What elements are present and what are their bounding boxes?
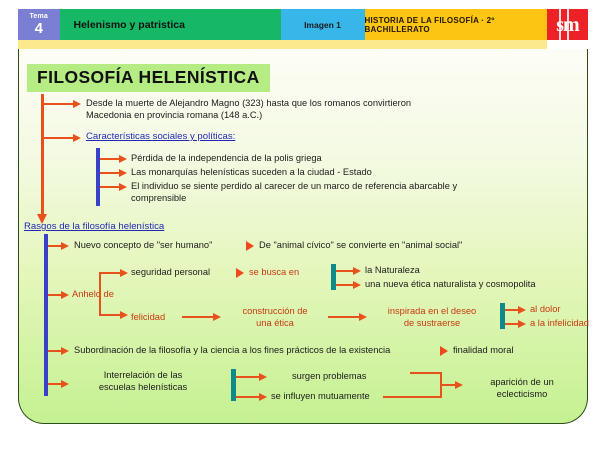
interrelacion-mid2-line	[236, 396, 260, 398]
anhelo-result-a1: la Naturaleza	[365, 264, 420, 276]
anhelo-branch-b-line	[99, 314, 121, 316]
section1-item2-line	[100, 172, 120, 174]
section2-row1-arrow-icon	[61, 242, 69, 250]
header-image-tag: Imagen 1	[281, 9, 365, 40]
felicidad-result-2-line	[505, 323, 519, 325]
section2-row2-line	[48, 294, 62, 296]
felicidad-step-2: inspirada en el deseo de sustraerse	[370, 305, 494, 330]
felicidad-step1-arrow-icon	[213, 313, 221, 321]
row-subordinacion-triangle-icon	[440, 346, 448, 356]
section2-row1-line	[48, 245, 62, 247]
interrelacion-mid1-line	[236, 376, 260, 378]
anhelo-riser-up	[99, 272, 101, 294]
row-subordinacion-right: finalidad moral	[453, 344, 513, 356]
header-topic-badge: Tema 4	[18, 9, 60, 40]
anhelo-result-a1-line	[336, 270, 354, 272]
anhelo-branch-b-arrow-icon	[120, 311, 128, 319]
anhelo-riser-down	[99, 294, 101, 316]
interrelacion-mid1-arrow-icon	[259, 373, 267, 381]
anhelo-result-a2-arrow-icon	[353, 281, 361, 289]
row-new-concept-left: Nuevo concepto de "ser humano"	[74, 239, 212, 251]
row-new-concept-triangle-icon	[246, 241, 254, 251]
section1-item-1: Pérdida de la independencia de la polis …	[131, 152, 561, 164]
felicidad-result-1: al dolor	[530, 303, 561, 315]
felicidad-step2-line	[328, 316, 360, 318]
merge-out-arrow-icon	[455, 381, 463, 389]
section1-item1-line	[100, 158, 120, 160]
header-unit-title: Helenismo y patristica	[60, 9, 281, 40]
interrelacion-mid2-arrow-icon	[259, 393, 267, 401]
row-interrelacion-right: aparición de un eclecticismo	[466, 376, 578, 401]
section2-group-bar	[44, 234, 48, 396]
felicidad-step2-arrow-icon	[359, 313, 367, 321]
header-publisher-logo: sm	[547, 9, 588, 40]
header-course-title: HISTORIA DE LA FILOSOFÍA · 2º BACHILLERA…	[365, 9, 548, 40]
logo-stripe-right-icon	[567, 9, 569, 40]
anhelo-branch-a-triangle-icon	[236, 268, 244, 278]
merge-out-line	[440, 384, 456, 386]
interrelacion-middle-2: se influyen mutuamente	[271, 390, 370, 402]
merge-top-line	[410, 372, 442, 374]
anhelo-branch-b-item: felicidad	[131, 311, 165, 323]
header-accent-strip	[18, 40, 547, 49]
section2-row2-arrow-icon	[61, 291, 69, 299]
felicidad-step1-line	[182, 316, 214, 318]
felicidad-result-2-arrow-icon	[518, 320, 526, 328]
row-subordinacion-left: Subordinación de la filosofía y la cienc…	[74, 344, 390, 356]
branch-line-section1	[44, 137, 74, 139]
slide-header: Tema 4 Helenismo y patristica Imagen 1 H…	[18, 9, 588, 40]
section2-row3-line	[48, 350, 62, 352]
anhelo-label: Anhelo de	[72, 288, 114, 300]
section1-heading: Características sociales y políticas:	[86, 131, 235, 143]
header-topic-label: Tema	[29, 13, 48, 20]
felicidad-result-1-arrow-icon	[518, 306, 526, 314]
branch-line-intro	[44, 103, 74, 105]
section2-row4-line	[48, 383, 62, 385]
anhelo-branch-a-line	[99, 272, 121, 274]
anhelo-result-a2: una nueva ética naturalista y cosmopolit…	[365, 278, 536, 290]
intro-text: Desde la muerte de Alejandro Magno (323)…	[86, 97, 566, 122]
felicidad-result-2: a la infelicidad	[530, 317, 589, 329]
section1-item2-arrow-icon	[119, 169, 127, 177]
anhelo-branch-a-item: seguridad personal	[131, 266, 210, 278]
anhelo-branch-a-connector: se busca en	[249, 266, 299, 278]
felicidad-result-1-line	[505, 309, 519, 311]
row-new-concept-right: De "animal cívico" se convierte en "anim…	[259, 239, 462, 251]
felicidad-results-group-bar	[500, 303, 505, 329]
section1-group-bar	[96, 148, 100, 206]
section2-row3-arrow-icon	[61, 347, 69, 355]
section1-item-2: Las monarquías helenísticas suceden a la…	[131, 166, 561, 178]
anhelo-result-a1-arrow-icon	[353, 267, 361, 275]
anhelo-branch-a-arrow-icon	[120, 269, 128, 277]
main-spine-line	[41, 94, 44, 219]
page-title: FILOSOFÍA HELENÍSTICA	[27, 64, 270, 92]
section1-item3-arrow-icon	[119, 183, 127, 191]
section1-item-3: El individuo se siente perdido al carece…	[131, 180, 571, 205]
anhelo-result-a2-line	[336, 284, 354, 286]
section1-item1-arrow-icon	[119, 155, 127, 163]
header-topic-number: 4	[35, 21, 43, 36]
interrelacion-middle-1: surgen problemas	[292, 370, 366, 382]
branch-arrow-intro-icon	[73, 100, 81, 108]
anhelo-branch-a-group-bar	[331, 264, 336, 290]
section1-item3-line	[100, 186, 120, 188]
branch-arrow-section1-icon	[73, 134, 81, 142]
section2-row4-arrow-icon	[61, 380, 69, 388]
slide-root: Tema 4 Helenismo y patristica Imagen 1 H…	[0, 0, 600, 450]
logo-stripe-left-icon	[559, 9, 561, 40]
row-interrelacion-left: Interrelación de las escuelas helenístic…	[78, 369, 208, 394]
felicidad-step-1: construcción de una ética	[226, 305, 324, 330]
section2-heading: Rasgos de la filosofía helenística	[24, 221, 164, 233]
merge-bottom-line	[383, 396, 442, 398]
